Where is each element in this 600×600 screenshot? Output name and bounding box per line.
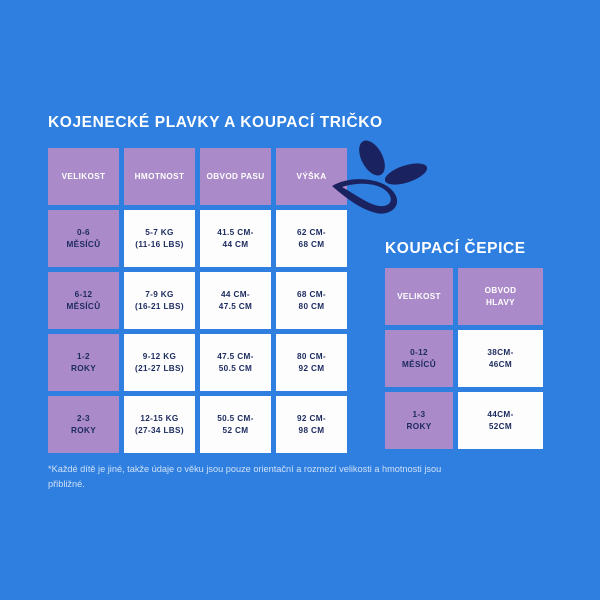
- cell-text: 2-3 ROKY: [71, 413, 96, 437]
- main-header-hmotnost-label: HMOTNOST: [135, 171, 185, 183]
- table-cell-height: 62 CM- 68 CM: [276, 210, 347, 267]
- size-chart-canvas: KOJENECKÉ PLAVKY A KOUPACÍ TRIČKO VELIKO…: [0, 0, 600, 600]
- cell-text: 12-15 KG (27-34 LBS): [135, 413, 184, 437]
- table-cell-height: 92 CM- 98 CM: [276, 396, 347, 453]
- splash-droplet-upper: [354, 136, 390, 179]
- cell-text: 50.5 CM- 52 CM: [217, 413, 253, 437]
- cap-header-obvod-hlavy: OBVOD HLAVY: [458, 268, 543, 325]
- cell-text: 41.5 CM- 44 CM: [217, 227, 253, 251]
- table-row: 2-3 ROKY: [48, 396, 119, 453]
- cell-text: 38CM- 46CM: [487, 347, 513, 371]
- secondary-table-title: KOUPACÍ ČEPICE: [385, 240, 526, 258]
- main-table-title: KOJENECKÉ PLAVKY A KOUPACÍ TRIČKO: [48, 114, 383, 132]
- cell-text: 1-3 ROKY: [406, 409, 431, 433]
- cell-text: 47.5 CM- 50.5 CM: [217, 351, 253, 375]
- table-cell-height: 68 CM- 80 CM: [276, 272, 347, 329]
- table-cell-waist: 50.5 CM- 52 CM: [200, 396, 271, 453]
- splash-droplet-right: [382, 159, 429, 189]
- main-header-obvod-pasu: OBVOD PASU: [200, 148, 271, 205]
- cell-text: 0-6 MĚSÍCŮ: [67, 227, 101, 251]
- cell-text: 80 CM- 92 CM: [297, 351, 326, 375]
- swim-cap-size-table: VELIKOST OBVOD HLAVY 0-12 MĚSÍCŮ 38CM- 4…: [385, 268, 543, 449]
- table-cell-weight: 12-15 KG (27-34 LBS): [124, 396, 195, 453]
- table-cell-weight: 9-12 KG (21-27 LBS): [124, 334, 195, 391]
- cell-text: 92 CM- 98 CM: [297, 413, 326, 437]
- main-header-velikost-label: VELIKOST: [62, 171, 106, 183]
- cap-header-velikost-label: VELIKOST: [397, 291, 441, 303]
- cell-text: 7-9 KG (16-21 LBS): [135, 289, 184, 313]
- main-header-velikost: VELIKOST: [48, 148, 119, 205]
- cell-text: 44 CM- 47.5 CM: [219, 289, 252, 313]
- main-header-hmotnost: HMOTNOST: [124, 148, 195, 205]
- table-row: 0-6 MĚSÍCŮ: [48, 210, 119, 267]
- cell-text: 1-2 ROKY: [71, 351, 96, 375]
- main-header-obvod-pasu-label: OBVOD PASU: [207, 171, 265, 183]
- cell-text: 5-7 KG (11-16 LBS): [135, 227, 183, 251]
- cell-text: 68 CM- 80 CM: [297, 289, 326, 313]
- main-size-table: VELIKOST HMOTNOST OBVOD PASU VÝŠKA 0-6 M…: [48, 148, 347, 453]
- cap-header-velikost: VELIKOST: [385, 268, 453, 325]
- cell-text: 9-12 KG (21-27 LBS): [135, 351, 184, 375]
- cell-text: 0-12 MĚSÍCŮ: [402, 347, 436, 371]
- table-cell-waist: 47.5 CM- 50.5 CM: [200, 334, 271, 391]
- table-cell-height: 80 CM- 92 CM: [276, 334, 347, 391]
- main-header-vyska: VÝŠKA: [276, 148, 347, 205]
- table-cell-head-circumference: 44CM- 52CM: [458, 392, 543, 449]
- footnote-disclaimer: *Každé dítě je jiné, takže údaje o věku …: [48, 462, 448, 492]
- table-cell-waist: 44 CM- 47.5 CM: [200, 272, 271, 329]
- table-row: 0-12 MĚSÍCŮ: [385, 330, 453, 387]
- table-row: 1-2 ROKY: [48, 334, 119, 391]
- cap-header-obvod-hlavy-label: OBVOD HLAVY: [485, 285, 517, 309]
- cell-text: 6-12 MĚSÍCŮ: [67, 289, 101, 313]
- table-row: 1-3 ROKY: [385, 392, 453, 449]
- table-cell-weight: 7-9 KG (16-21 LBS): [124, 272, 195, 329]
- table-cell-head-circumference: 38CM- 46CM: [458, 330, 543, 387]
- table-cell-waist: 41.5 CM- 44 CM: [200, 210, 271, 267]
- table-cell-weight: 5-7 KG (11-16 LBS): [124, 210, 195, 267]
- table-row: 6-12 MĚSÍCŮ: [48, 272, 119, 329]
- cell-text: 44CM- 52CM: [487, 409, 513, 433]
- main-header-vyska-label: VÝŠKA: [297, 171, 327, 183]
- cell-text: 62 CM- 68 CM: [297, 227, 326, 251]
